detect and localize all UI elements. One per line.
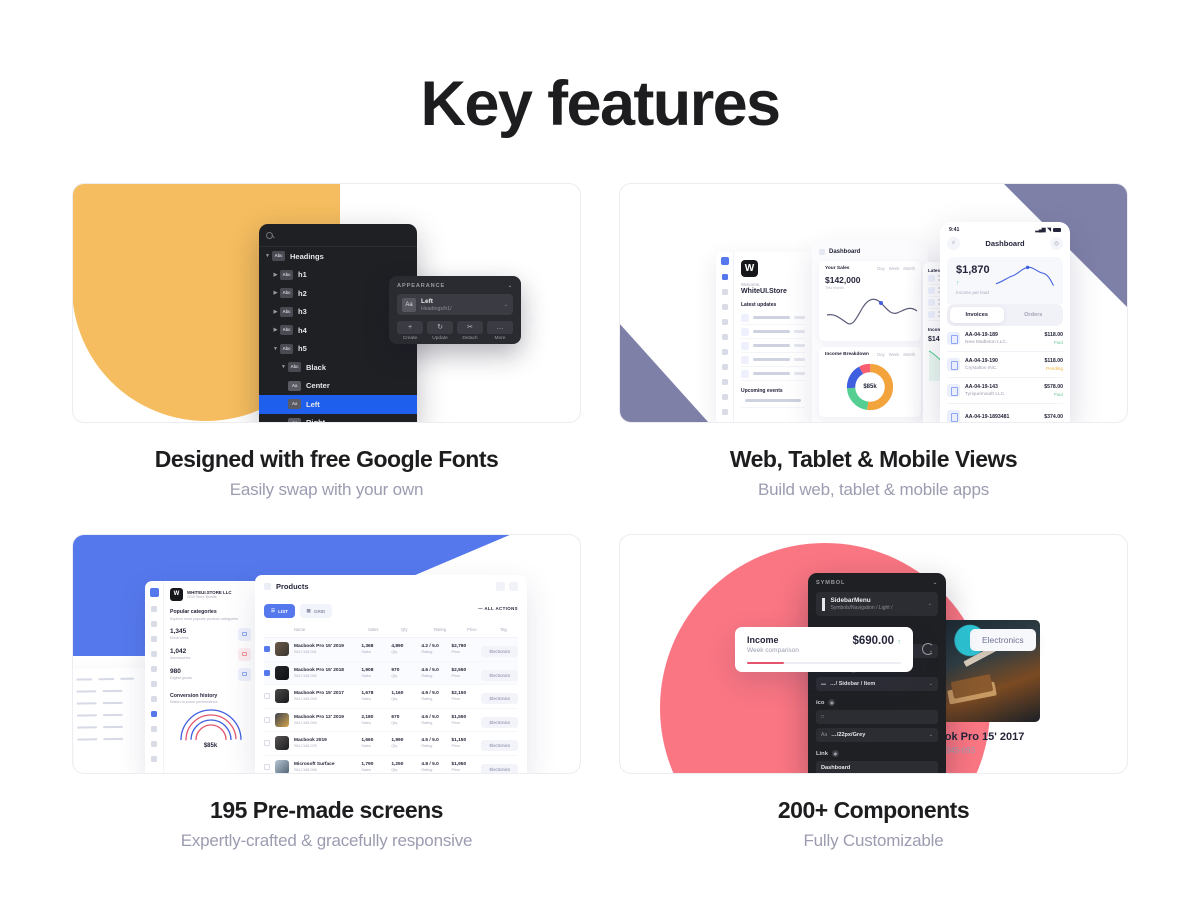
chevron-down-icon: ▼ <box>280 364 287 370</box>
category-row[interactable]: 980Digital goods <box>170 668 251 681</box>
view-tab-grid[interactable]: ▦GRID <box>300 604 333 618</box>
conversion-value: $85k <box>179 743 243 749</box>
list-item[interactable] <box>741 353 805 367</box>
nav-icon-calendar[interactable] <box>722 394 728 400</box>
hero-label: Income per lead <box>956 290 995 295</box>
sales-label: Sales <box>361 697 391 701</box>
table-row[interactable]: Macbook Pro 15' 2018SKU 345-002 1,908Sal… <box>264 662 518 686</box>
nav-icon-settings[interactable] <box>151 756 157 762</box>
all-actions-button[interactable]: — ALL ACTIONS <box>478 606 518 611</box>
override-value: …/22px/Grey <box>831 732 925 738</box>
nav-icon-file[interactable] <box>151 741 157 747</box>
item-meta <box>794 330 805 332</box>
product-price: $1,950 <box>451 762 481 767</box>
product-sales: 2,180 <box>361 715 391 720</box>
item-icon <box>741 328 749 336</box>
item-text <box>753 330 790 333</box>
info-icon[interactable]: ◉ <box>832 750 839 757</box>
nav-icon-docs[interactable] <box>722 304 728 310</box>
invoice-id: AA-04-19-189 <box>965 332 1040 338</box>
product-thumbnail <box>275 760 289 774</box>
symbol-inspector-panel[interactable]: SYMBOL ⌄ SidebarMenu Symbols/Navigation … <box>808 573 946 774</box>
status-badge: Electronics <box>481 670 517 681</box>
key-features-page: Key features ▼ Abc Headings ▶ <box>0 68 1200 907</box>
income-label: Income Breakdown <box>825 352 869 357</box>
invoice-icon <box>947 410 960 423</box>
conversion-history-sub: Watch to some performance <box>170 700 251 704</box>
product-rating: 4.9 / 5.0 <box>421 691 451 696</box>
product-sku: SKU 345-004 <box>294 721 361 725</box>
row-checkbox[interactable] <box>264 764 270 770</box>
income-amount: $690.00 ↑ <box>852 635 901 647</box>
feature-4-caption: 200+ Components Fully Customizable <box>619 797 1128 851</box>
nav-icon-cart[interactable] <box>151 621 157 627</box>
product-sales: 1,908 <box>361 668 391 673</box>
product-rating: 4.8 / 5.0 <box>421 762 451 767</box>
brand-logo: W <box>741 260 758 277</box>
more-label: More <box>487 336 513 341</box>
category-label: Accessories <box>170 656 190 660</box>
qty-label: Qty <box>391 768 421 772</box>
table-row[interactable]: Macbook Pro 15' 2017SKU 345-003 1,678Sal… <box>264 685 518 709</box>
text-style-chip: Abc <box>288 362 301 372</box>
override-value-sidebar-item[interactable]: ▬ …/ Sidebar / Item ⌄ <box>816 677 938 691</box>
invoice-id: AA-04-19-143 <box>965 384 1039 390</box>
category-value: 980 <box>170 668 192 675</box>
conversion-history-title: Conversion history <box>170 693 251 699</box>
product-thumbnail <box>275 642 289 656</box>
nav-icon-home[interactable] <box>722 274 728 280</box>
table-row[interactable]: Macbook Pro 15' 2019SKU 345-001 1,368Sal… <box>264 638 518 662</box>
sidebar-content: W WHITEUI.STORE LLC 2019 Store Bundle Po… <box>164 581 257 759</box>
category-label: Electronics <box>170 636 189 640</box>
product-thumbnail <box>275 666 289 680</box>
table-row[interactable]: Macbook Pro 12' 2019SKU 345-004 2,180Sal… <box>264 709 518 733</box>
feature-title: Designed with free Google Fonts <box>72 446 581 473</box>
sidebar-icon-rail <box>145 581 164 774</box>
product-sku: SKU 345-002 <box>294 674 361 678</box>
table-row[interactable]: Microsoft SurfaceSKU 345-096 1,790Sales … <box>264 756 518 775</box>
table-row[interactable]: Macbook 2019SKU 345-075 1,660Sales 1,990… <box>264 732 518 756</box>
invoice-amount: $118.00 <box>1045 332 1063 338</box>
qty-label: Qty <box>391 744 421 748</box>
category-row[interactable]: 1,345Electronics <box>170 628 251 641</box>
chevron-down-icon[interactable]: ⌄ <box>504 302 508 308</box>
sales-sub: This month <box>825 286 915 290</box>
chevron-down-icon[interactable]: ⌄ <box>508 283 513 289</box>
invoice-amount: $578.00 <box>1044 384 1063 390</box>
income-donut-chart: $85k <box>845 362 895 412</box>
override-value-link[interactable]: Dashboard <box>816 761 938 774</box>
row-checkbox[interactable] <box>264 670 270 676</box>
invoice-amount-status: $118.00 Pending <box>1045 358 1063 371</box>
list-item[interactable] <box>741 367 805 381</box>
symbol-path: Symbols/Navigation / Light / <box>831 605 922 611</box>
view-tab-list[interactable]: ☰LIST <box>264 604 295 618</box>
product-name: Macbook Pro 15' 2017 <box>294 691 361 696</box>
tab-invoices[interactable]: Invoices <box>950 307 1004 323</box>
symbol-header-label: SYMBOL <box>816 580 845 586</box>
product-name: Macbook 2019 <box>294 738 361 743</box>
tree-item-label: h3 <box>298 307 307 316</box>
text-style-chip: Abc <box>280 270 293 280</box>
welcome-label: Welcome, <box>741 282 805 287</box>
info-icon[interactable]: ◉ <box>828 699 835 706</box>
status-badge: Paid <box>1044 392 1063 397</box>
invoice-info: AA-04-19-1893481 <box>965 414 1039 420</box>
symbol-select[interactable]: SidebarMenu Symbols/Navigation / Light /… <box>816 592 938 616</box>
battery-icon <box>1053 228 1061 232</box>
phone-tabs: Invoices Orders <box>947 304 1063 326</box>
column-qty[interactable]: Qty <box>401 627 434 632</box>
nav-icon-docs[interactable] <box>151 636 157 642</box>
product-rating: 4.6 / 5.0 <box>421 715 451 720</box>
tree-item-center[interactable]: Aa Center <box>259 377 417 396</box>
tree-item-label: h2 <box>298 289 307 298</box>
invoice-amount: $374.00 <box>1044 414 1063 420</box>
digital-goods-icon <box>238 668 251 681</box>
product-price: $1,150 <box>451 738 481 743</box>
item-meta <box>794 344 805 346</box>
feature-2-thumbnail: W Welcome, WhiteUI.Store Latest updates … <box>619 183 1128 423</box>
menu-icon[interactable] <box>264 583 271 590</box>
column-name[interactable]: Name <box>294 627 368 632</box>
style-path: Headings/h1/ <box>421 306 504 312</box>
sidebar-content: W Welcome, WhiteUI.Store Latest updates … <box>734 252 812 416</box>
sales-label: Sales <box>361 650 391 654</box>
signal-icon: ▂▄▆ <box>1035 227 1045 233</box>
profile-icon[interactable]: ◎ <box>1050 237 1063 250</box>
brand-logo: W <box>170 588 183 601</box>
tree-item-label: h1 <box>298 270 307 279</box>
text-style-chip: Abc <box>280 307 293 317</box>
phone-title: Dashboard <box>985 239 1024 248</box>
store-name: WhiteUI.Store <box>741 288 805 295</box>
price-label: Price <box>451 674 481 678</box>
feature-title: 200+ Components <box>619 797 1128 824</box>
purple-corner-shape-2 <box>619 323 709 423</box>
nav-icon-inbox[interactable] <box>151 651 157 657</box>
nav-icon-chat[interactable] <box>151 696 157 702</box>
sales-label: Sales <box>361 674 391 678</box>
product-sku: SKU 345-075 <box>294 744 361 748</box>
nav-icon-products[interactable] <box>151 711 157 717</box>
category-value: 1,345 <box>170 628 189 635</box>
invoice-amount-status: $578.00 Paid <box>1044 384 1063 397</box>
tab-month[interactable]: Month <box>903 266 915 271</box>
features-grid: ▼ Abc Headings ▶ Abc h1 ▶ Abc h2 <box>72 183 1128 851</box>
feature-1-thumbnail: ▼ Abc Headings ▶ Abc h1 ▶ Abc h2 <box>72 183 581 423</box>
invoice-id: AA-04-19-1893481 <box>965 414 1039 420</box>
item-text <box>745 399 801 402</box>
phone-nav-bar: ⌕ Dashboard ◎ <box>940 233 1070 257</box>
rating-label: Rating <box>421 674 451 678</box>
invoice-info: AA-04-19-189 New Madleton LLC. <box>965 332 1040 345</box>
product-sales: 1,678 <box>361 691 391 696</box>
chevron-down-icon[interactable]: ⌄ <box>933 580 938 586</box>
filter-icon[interactable] <box>509 582 518 591</box>
status-indicators: ▂▄▆ ◥ <box>1035 227 1061 233</box>
symbol-header: SYMBOL ⌄ <box>816 580 938 586</box>
electronics-tag: Electronics <box>970 629 1036 651</box>
tab-day[interactable]: Day <box>877 352 884 357</box>
tab-month[interactable]: Month <box>903 352 915 357</box>
appearance-actions: + Create ↻ Update ✂ Detach … <box>397 321 513 341</box>
feature-title: Web, Tablet & Mobile Views <box>619 446 1128 473</box>
symbol-name: SidebarMenu <box>831 597 922 604</box>
override-value: …/ Sidebar / Item <box>830 681 925 687</box>
tree-item-black[interactable]: ▼ Abc Black <box>259 358 417 377</box>
feature-card-google-fonts: ▼ Abc Headings ▶ Abc h1 ▶ Abc h2 <box>72 183 581 500</box>
nav-icon-home[interactable] <box>151 606 157 612</box>
table-header: Name Sales Qty Rating Price Tag <box>264 626 518 638</box>
event-icon <box>928 287 935 294</box>
item-text <box>753 372 790 375</box>
products-sidebar: W WHITEUI.STORE LLC 2019 Store Bundle Po… <box>145 581 257 774</box>
feature-title: 195 Pre-made screens <box>72 797 581 824</box>
nav-icon-users[interactable] <box>722 379 728 385</box>
product-name: Microsoft Surface <box>294 762 361 767</box>
rating-label: Rating <box>421 768 451 772</box>
app-logo-icon <box>150 588 159 597</box>
price-label: Price <box>451 721 481 725</box>
up-arrow-icon: ↑ <box>897 637 901 646</box>
dashboard-header: Dashboard <box>819 249 921 255</box>
latest-updates-list <box>741 311 805 381</box>
nav-icon-settings[interactable] <box>722 409 728 415</box>
tab-day[interactable]: Day <box>877 266 884 271</box>
income-top-row: Income Week comparison $690.00 ↑ <box>747 635 901 654</box>
chevron-down-icon[interactable]: ⌄ <box>929 681 933 687</box>
invoice-company: Crystalton INC. <box>965 366 1040 371</box>
column-sales[interactable]: Sales <box>368 627 401 632</box>
accessories-icon <box>238 648 251 661</box>
category-label: Digital goods <box>170 676 192 680</box>
text-style-chip: Abc <box>280 325 293 335</box>
status-badge: Electronics <box>481 740 517 751</box>
select-all-checkbox[interactable] <box>264 626 270 632</box>
list-item[interactable] <box>741 339 805 353</box>
detach-label: Detach <box>457 336 483 341</box>
rating-label: Rating <box>421 650 451 654</box>
appearance-popover: APPEARANCE ⌄ Aa Left Headings/h1/ ⌄ + <box>389 276 521 344</box>
feature-subtitle: Fully Customizable <box>619 831 1128 851</box>
background-table-panel <box>72 667 152 774</box>
category-row[interactable]: 1,042Accessories <box>170 648 251 661</box>
latest-updates-heading: Latest updates <box>741 302 805 308</box>
category-value: 1,042 <box>170 648 190 655</box>
override-value: Dashboard <box>821 765 933 771</box>
feature-card-multi-views: W Welcome, WhiteUI.Store Latest updates … <box>619 183 1128 500</box>
item-text <box>753 316 790 319</box>
feature-3-thumbnail: W WHITEUI.STORE LLC 2019 Store Bundle Po… <box>72 534 581 774</box>
product-sku: SKU 345-001 <box>294 650 361 654</box>
product-qty: 670 <box>391 715 421 720</box>
event-icon <box>928 275 935 282</box>
tree-item-label: Center <box>306 381 330 390</box>
invoice-row[interactable]: AA-04-19-190 Crystalton INC. $118.00 Pen… <box>947 352 1063 378</box>
sales-value: $142,000 <box>825 275 915 285</box>
invoice-row[interactable]: AA-04-19-1893481 $374.00 <box>947 404 1063 423</box>
product-name: Macbook Pro 15' 2018 <box>294 668 361 673</box>
more-options-button[interactable]: … More <box>487 321 513 341</box>
nav-icon-box[interactable] <box>722 334 728 340</box>
invoice-row[interactable]: AA-04-19-143 Tyriquemouth LLC. $578.00 P… <box>947 378 1063 404</box>
invoice-company: New Madleton LLC. <box>965 340 1040 345</box>
conversion-rings-chart: $85k <box>179 708 243 752</box>
income-breakdown-card: Income Breakdown Day Week Month <box>819 347 921 417</box>
dashboard-main-panel: Dashboard Your Sales Day Week Month $142… <box>812 242 928 423</box>
invoice-company: Tyriquemouth LLC. <box>965 392 1039 397</box>
product-price: $1,550 <box>451 715 481 720</box>
nav-icon-users[interactable] <box>151 681 157 687</box>
nav-icon-grid[interactable] <box>151 666 157 672</box>
text-style-chip: Abc <box>280 344 293 354</box>
scissors-icon: ✂ <box>457 321 483 334</box>
item-meta <box>794 372 805 374</box>
grid-icon: ▦ <box>307 608 311 614</box>
style-name: Left <box>421 298 504 305</box>
invoice-amount: $118.00 <box>1045 358 1063 364</box>
product-qty: 4,890 <box>391 644 421 649</box>
override-value-text-style[interactable]: Aa …/22px/Grey ⌄ <box>816 728 938 742</box>
list-item[interactable] <box>741 325 805 339</box>
tree-item-headings[interactable]: ▼ Abc Headings <box>259 247 417 266</box>
tree-item-right[interactable]: Aa Right <box>259 414 417 424</box>
product-price: $2,550 <box>451 668 481 673</box>
chevron-down-icon: ▼ <box>264 253 271 259</box>
feature-2-caption: Web, Tablet & Mobile Views Build web, ta… <box>619 446 1128 500</box>
tree-item-label: Left <box>306 400 320 409</box>
product-thumbnail <box>275 689 289 703</box>
event-item[interactable] <box>741 394 805 408</box>
row-checkbox[interactable] <box>264 740 270 746</box>
invoice-id: AA-04-19-190 <box>965 358 1040 364</box>
qty-label: Qty <box>391 650 421 654</box>
status-badge: Pending <box>1045 366 1063 371</box>
feature-card-components: Electronics …ook Pro 15' 2017 SKU 345-09… <box>619 534 1128 851</box>
product-sales: 1,790 <box>361 762 391 767</box>
list-item[interactable] <box>741 311 805 325</box>
invoice-icon <box>947 332 960 345</box>
update-label: Update <box>427 336 453 341</box>
chevron-down-icon[interactable]: ⌄ <box>928 601 932 607</box>
appearance-header: APPEARANCE ⌄ <box>397 283 513 289</box>
tree-item-label: h4 <box>298 326 307 335</box>
aa-icon: Aa <box>821 732 827 738</box>
create-style-button[interactable]: + Create <box>397 321 423 341</box>
rating-label: Rating <box>421 697 451 701</box>
rating-label: Rating <box>421 744 451 748</box>
item-meta <box>794 316 805 318</box>
appearance-header-label: APPEARANCE <box>397 283 445 289</box>
product-sales: 1,660 <box>361 738 391 743</box>
feature-card-premade-screens: W WHITEUI.STORE LLC 2019 Store Bundle Po… <box>72 534 581 851</box>
popular-categories-title: Popular categories <box>170 609 251 615</box>
invoice-icon <box>947 384 960 397</box>
chevron-down-icon[interactable]: ⌄ <box>929 732 933 738</box>
status-badge: Electronics <box>481 717 517 728</box>
product-price: $2,790 <box>451 644 481 649</box>
chevron-right-icon: ▶ <box>272 290 279 296</box>
text-style-chip: Abc <box>280 288 293 298</box>
page-title: Key features <box>0 68 1200 140</box>
tab-orders[interactable]: Orders <box>1007 307 1061 323</box>
dashboard-sidebar: W Welcome, WhiteUI.Store Latest updates … <box>716 252 812 423</box>
column-tag[interactable]: Tag <box>500 627 518 632</box>
product-sku: SKU 345-096 <box>294 768 361 772</box>
search-icon[interactable] <box>496 582 505 591</box>
table-row <box>77 732 147 745</box>
invoice-amount-status: $374.00 <box>1044 414 1063 420</box>
hero-sparkline-chart <box>995 264 1054 290</box>
item-icon <box>741 370 749 378</box>
brand-row: W WHITEUI.STORE LLC 2019 Store Bundle <box>170 588 251 601</box>
feature-subtitle: Easily swap with your own <box>72 480 581 500</box>
styles-search-input[interactable] <box>259 224 417 247</box>
tab-week[interactable]: Week <box>889 352 900 357</box>
nav-icon-calendar[interactable] <box>151 726 157 732</box>
column-rating[interactable]: Rating <box>434 627 467 632</box>
price-label: Price <box>451 744 481 748</box>
chevron-down-icon: ▼ <box>272 346 279 352</box>
row-checkbox[interactable] <box>264 693 270 699</box>
event-icon <box>928 299 935 306</box>
plus-icon: + <box>397 321 423 334</box>
sales-label: Sales <box>361 721 391 725</box>
invoice-icon <box>947 358 960 371</box>
event-icon <box>928 311 935 318</box>
chevron-right-icon: ▶ <box>272 327 279 333</box>
product-thumbnail <box>275 713 289 727</box>
search-icon[interactable]: ⌕ <box>947 237 960 250</box>
column-price[interactable]: Price <box>467 627 500 632</box>
your-sales-card: Your Sales Day Week Month $142,000 This … <box>819 261 921 341</box>
search-icon <box>266 232 273 239</box>
product-rating: 4.2 / 5.0 <box>421 644 451 649</box>
menu-icon[interactable] <box>819 249 825 255</box>
row-checkbox[interactable] <box>264 646 270 652</box>
products-main-panel: Products ☰LIST ▦GRID — ALL ACTIONS <box>255 575 527 774</box>
product-qty: 970 <box>391 668 421 673</box>
invoice-row[interactable]: AA-04-19-189 New Madleton LLC. $118.00 P… <box>947 326 1063 352</box>
price-label: Price <box>451 650 481 654</box>
feature-subtitle: Build web, tablet & mobile apps <box>619 480 1128 500</box>
style-select[interactable]: Aa Left Headings/h1/ ⌄ <box>397 294 513 315</box>
detach-style-button[interactable]: ✂ Detach <box>457 321 483 341</box>
row-checkbox[interactable] <box>264 717 270 723</box>
nav-icon-tools[interactable] <box>722 349 728 355</box>
tab-week[interactable]: Week <box>889 266 900 271</box>
symbol-marker-icon: ▬ <box>821 681 826 687</box>
product-qty: 1,250 <box>391 762 421 767</box>
product-qty: 1,160 <box>391 691 421 696</box>
tree-item-left-selected[interactable]: Aa Left <box>259 395 417 414</box>
sales-label: Sales <box>361 744 391 748</box>
override-value-ico[interactable]: □ <box>816 710 938 724</box>
refresh-icon: ↻ <box>427 321 453 334</box>
nav-icon-chat[interactable] <box>722 364 728 370</box>
item-icon <box>741 314 749 322</box>
nav-icon-cart[interactable] <box>722 289 728 295</box>
item-text <box>753 358 790 361</box>
text-style-chip: Abc <box>272 251 285 261</box>
update-style-button[interactable]: ↻ Update <box>427 321 453 341</box>
item-meta <box>794 358 805 360</box>
override-label-ico: ico ◉ <box>816 699 938 706</box>
nav-icon-grid[interactable] <box>722 319 728 325</box>
products-toolbar: ☰LIST ▦GRID — ALL ACTIONS <box>264 599 518 618</box>
